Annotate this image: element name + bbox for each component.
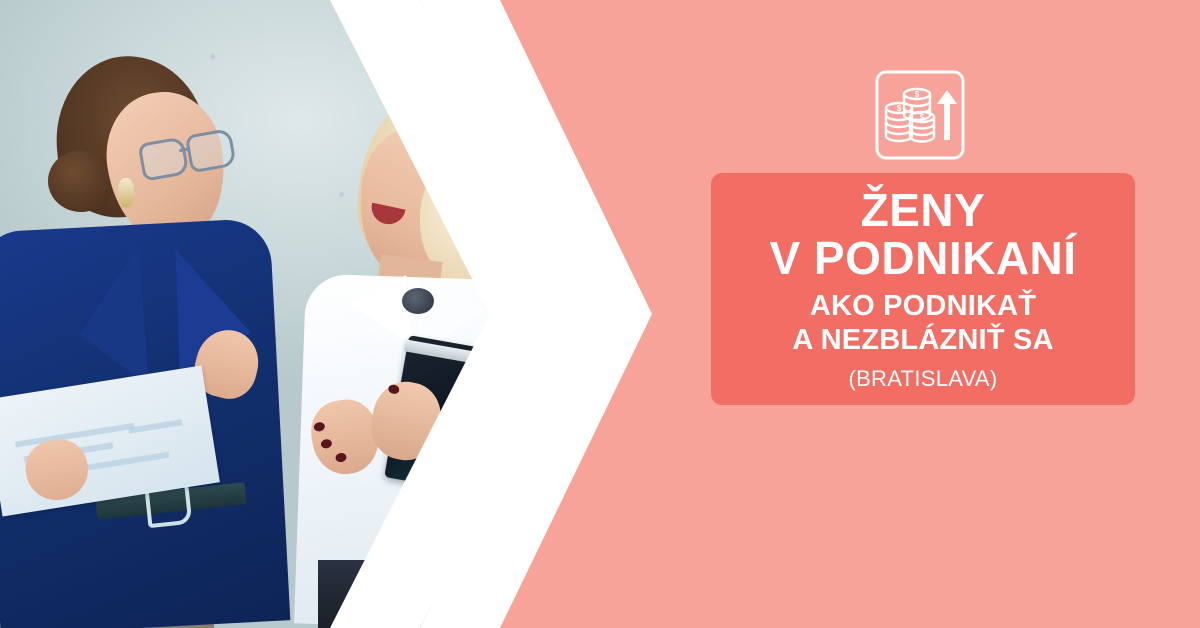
coins-growth-icon: $ $ $ — [875, 70, 965, 160]
svg-text:$: $ — [920, 113, 925, 122]
city-label: (BRATISLAVA) — [848, 366, 997, 392]
svg-text:$: $ — [915, 90, 920, 99]
event-banner: $ $ $ ŽENY V PODNIKAN — [0, 0, 1200, 628]
title-line-2: V PODNIKANÍ — [769, 234, 1076, 283]
subtitle-line-1: AKO PODNIKAŤ — [810, 289, 1036, 323]
woman-left-hair-bun — [48, 150, 114, 212]
footer-logo-bar: EURÓPSKA ÚNIA Európsky fond regionálneho… — [0, 518, 1200, 628]
woman-left-earring — [118, 178, 134, 208]
title-line-1: ŽENY — [861, 186, 986, 235]
svg-text:$: $ — [897, 104, 902, 113]
title-card: ŽENY V PODNIKANÍ AKO PODNIKAŤ A NEZBLÁZN… — [711, 173, 1135, 405]
woman-right-brooch — [402, 288, 434, 314]
subtitle-line-2: A NEZBLÁZNIŤ SA — [792, 323, 1053, 357]
